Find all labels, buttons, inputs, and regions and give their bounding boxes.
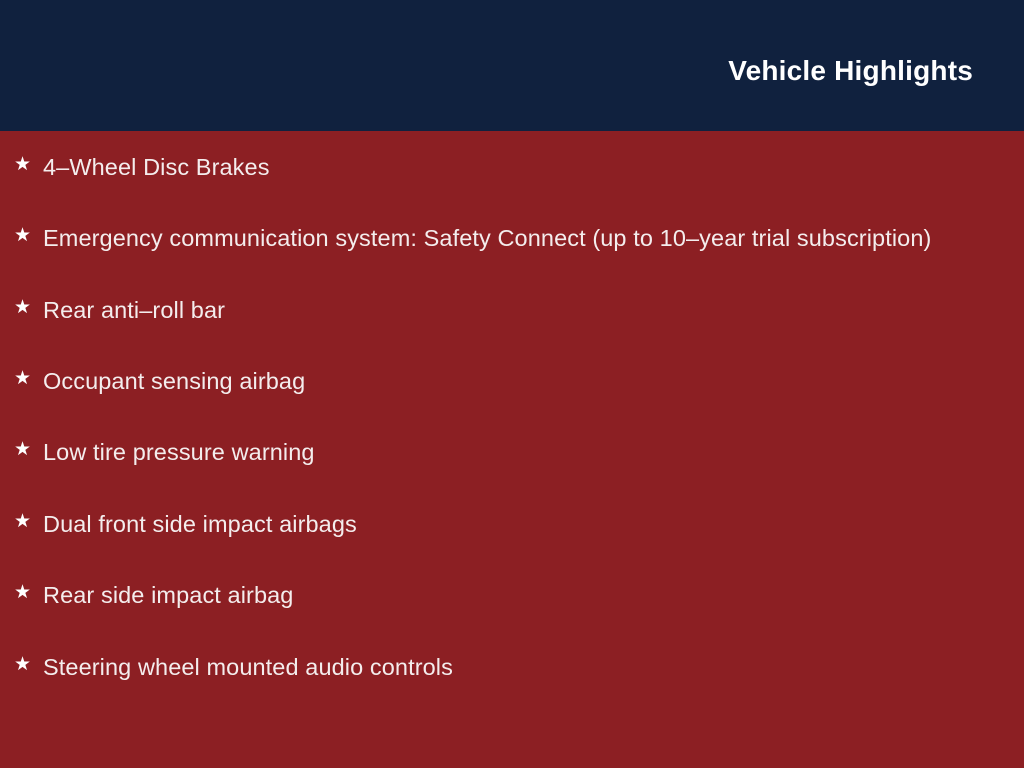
list-item: ★ Low tire pressure warning bbox=[14, 436, 963, 469]
slide: Vehicle Highlights ★ 4–Wheel Disc Brakes… bbox=[0, 0, 1024, 768]
star-bullet-icon: ★ bbox=[14, 437, 34, 464]
slide-body: ★ 4–Wheel Disc Brakes ★ Emergency commun… bbox=[0, 131, 1024, 768]
list-item-label: Occupant sensing airbag bbox=[43, 365, 963, 398]
list-item: ★ Rear side impact airbag bbox=[14, 579, 963, 612]
star-bullet-icon: ★ bbox=[14, 509, 34, 536]
list-item-label: Rear anti–roll bar bbox=[43, 294, 963, 327]
list-item-label: 4–Wheel Disc Brakes bbox=[43, 151, 963, 184]
star-bullet-icon: ★ bbox=[14, 652, 34, 679]
list-item-label: Dual front side impact airbags bbox=[43, 508, 963, 541]
star-bullet-icon: ★ bbox=[14, 152, 34, 179]
vehicle-highlights-list: ★ 4–Wheel Disc Brakes ★ Emergency commun… bbox=[14, 151, 984, 684]
list-item-label: Steering wheel mounted audio controls bbox=[43, 651, 963, 684]
list-item: ★ Steering wheel mounted audio controls bbox=[14, 651, 963, 684]
star-bullet-icon: ★ bbox=[14, 366, 34, 393]
slide-header: Vehicle Highlights bbox=[0, 0, 1024, 131]
star-bullet-icon: ★ bbox=[14, 295, 34, 322]
list-item: ★ Occupant sensing airbag bbox=[14, 365, 963, 398]
page-title: Vehicle Highlights bbox=[728, 56, 973, 87]
list-item-label: Low tire pressure warning bbox=[43, 436, 963, 469]
list-item-label: Rear side impact airbag bbox=[43, 579, 963, 612]
list-item-label: Emergency communication system: Safety C… bbox=[43, 222, 963, 255]
list-item: ★ Emergency communication system: Safety… bbox=[14, 222, 963, 255]
star-bullet-icon: ★ bbox=[14, 223, 34, 250]
list-item: ★ 4–Wheel Disc Brakes bbox=[14, 151, 963, 184]
star-bullet-icon: ★ bbox=[14, 580, 34, 607]
list-item: ★ Dual front side impact airbags bbox=[14, 508, 963, 541]
list-item: ★ Rear anti–roll bar bbox=[14, 294, 963, 327]
